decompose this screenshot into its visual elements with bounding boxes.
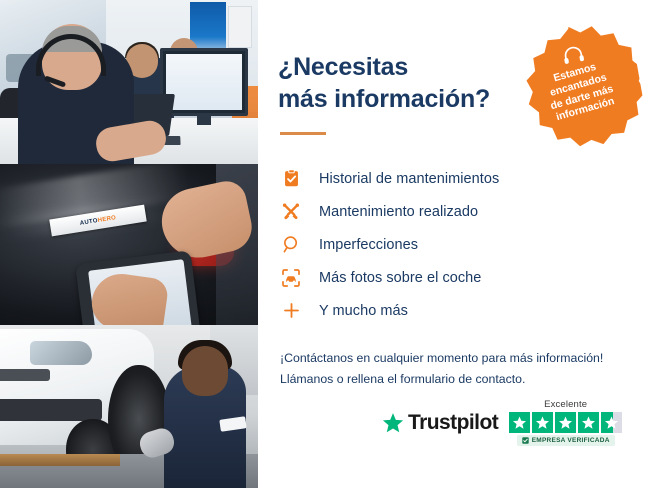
car-upper-grille bbox=[0, 369, 50, 381]
car-headlight bbox=[30, 341, 92, 365]
verified-company-label: EMPRESA VERIFICADA bbox=[532, 437, 610, 444]
plus-icon bbox=[280, 300, 302, 322]
contact-line-2: Llámanos o rellena el formulario de cont… bbox=[280, 372, 525, 386]
check-square-icon bbox=[522, 437, 529, 444]
star-2 bbox=[532, 412, 553, 433]
trustpilot-star-icon bbox=[382, 412, 404, 434]
call-center-agents-photo bbox=[0, 0, 258, 164]
car-lower-grille bbox=[0, 399, 102, 421]
photo-column: AUTOHERO bbox=[0, 0, 258, 488]
badge-text: Estamos encantados de darte más informac… bbox=[542, 58, 618, 125]
verified-company-badge: EMPRESA VERIFICADA bbox=[517, 435, 615, 446]
wall-poster-secondary bbox=[228, 6, 252, 48]
feature-item-more-photos: Más fotos sobre el coche bbox=[280, 261, 626, 294]
feature-label: Historial de mantenimientos bbox=[319, 171, 499, 187]
feature-list: Historial de mantenimientos Mantenimient… bbox=[280, 162, 626, 327]
feature-label: Más fotos sobre el coche bbox=[319, 270, 481, 286]
support-badge: Estamos encantados de darte más informac… bbox=[508, 16, 649, 157]
headset-icon bbox=[561, 45, 586, 66]
trustpilot-rating[interactable]: Trustpilot Excelente bbox=[382, 399, 622, 446]
car-scan-icon bbox=[280, 267, 302, 289]
clipboard-check-icon bbox=[280, 168, 302, 190]
wrench-screwdriver-icon bbox=[280, 201, 302, 223]
feature-item-maintenance-done: Mantenimiento realizado bbox=[280, 195, 626, 228]
ruler-brand-label: AUTOHERO bbox=[79, 215, 116, 227]
information-banner: AUTOHERO ¿Necesitas má bbox=[0, 0, 650, 488]
car-lift-platform bbox=[0, 454, 120, 466]
star-3 bbox=[555, 412, 576, 433]
trustpilot-logo[interactable]: Trustpilot bbox=[382, 411, 498, 435]
headline-line-1: ¿Necesitas bbox=[278, 53, 408, 81]
car-inspection-ruler-photo: AUTOHERO bbox=[0, 164, 258, 325]
feature-label: Y mucho más bbox=[319, 303, 408, 319]
trustpilot-wordmark: Trustpilot bbox=[408, 411, 498, 435]
trustpilot-stars bbox=[509, 412, 622, 433]
feature-label: Mantenimiento realizado bbox=[319, 204, 478, 220]
magnifier-icon bbox=[280, 234, 302, 256]
feature-label: Imperfecciones bbox=[319, 237, 418, 253]
contact-line-1: ¡Contáctanos en cualquier momento para m… bbox=[280, 351, 603, 365]
content-panel: ¿Necesitas más información? Estamos enca… bbox=[258, 0, 650, 488]
star-1 bbox=[509, 412, 530, 433]
star-4 bbox=[578, 412, 599, 433]
mechanic-wheel-photo bbox=[0, 325, 258, 488]
feature-item-much-more: Y mucho más bbox=[280, 294, 626, 327]
feature-item-imperfections: Imperfecciones bbox=[280, 228, 626, 261]
trustpilot-rating-label: Excelente bbox=[544, 399, 587, 410]
feature-item-maintenance-history: Historial de mantenimientos bbox=[280, 162, 626, 195]
mechanic-head bbox=[182, 346, 228, 396]
headline-line-2: más información? bbox=[278, 85, 490, 113]
star-5-partial bbox=[601, 412, 622, 433]
page-title: ¿Necesitas más información? bbox=[278, 52, 508, 115]
title-divider bbox=[280, 132, 326, 135]
contact-text: ¡Contáctanos en cualquier momento para m… bbox=[280, 348, 626, 390]
